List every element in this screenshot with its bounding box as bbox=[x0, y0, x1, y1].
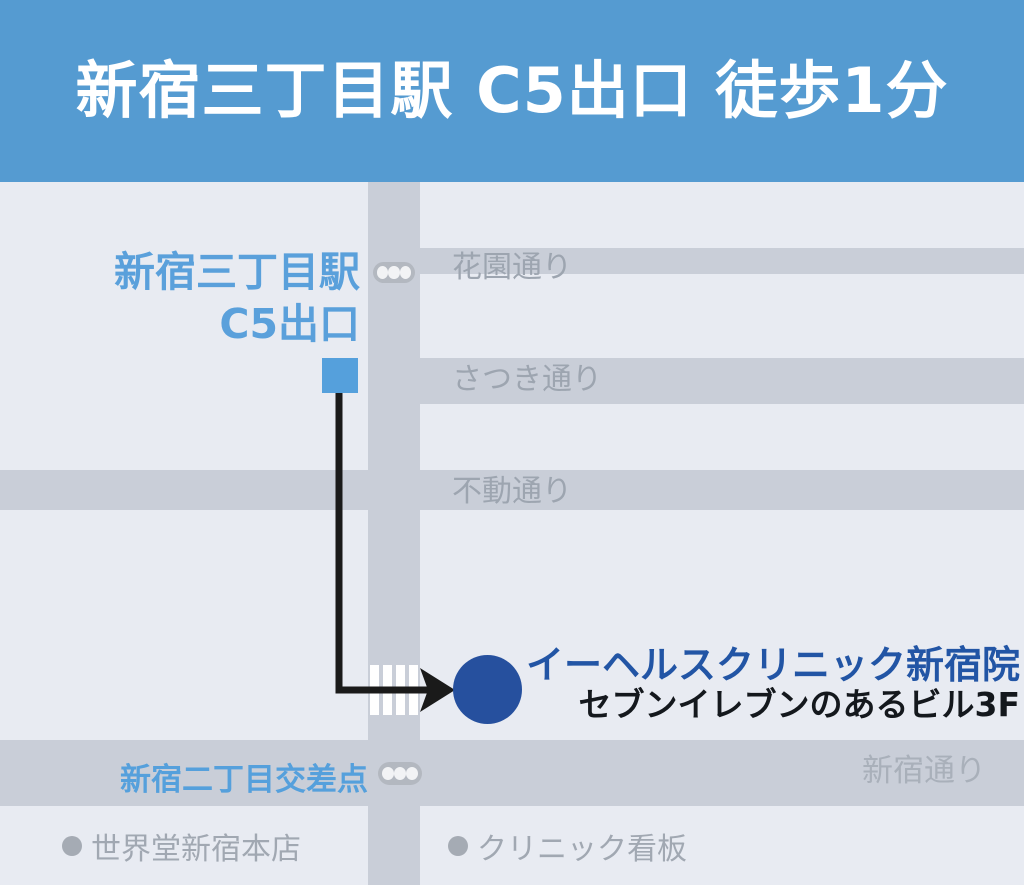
landmark-clinic-signage: クリニック看板 bbox=[448, 824, 687, 868]
road-label-satsuki-dori: さつき通り bbox=[452, 365, 602, 395]
landmark-label: 世界堂新宿本店 bbox=[91, 824, 301, 868]
landmark-dot-icon bbox=[62, 836, 82, 856]
traffic-light-bulb bbox=[388, 266, 399, 279]
landmark-dot-icon bbox=[448, 836, 468, 856]
access-map: 新宿三丁目駅 C5出口 徒歩1分 花園通り さつき通り 不動通り 新宿通り bbox=[0, 0, 1024, 885]
traffic-light-bulb bbox=[406, 767, 418, 780]
crosswalk-stripe bbox=[396, 665, 405, 715]
page-title: 新宿三丁目駅 C5出口 徒歩1分 bbox=[76, 60, 949, 122]
map-header-banner: 新宿三丁目駅 C5出口 徒歩1分 bbox=[0, 0, 1024, 182]
city-block bbox=[0, 510, 368, 740]
map-canvas: 花園通り さつき通り 不動通り 新宿通り 新宿三丁目駅 C5出口 bbox=[0, 182, 1024, 885]
city-block bbox=[420, 404, 1024, 470]
station-exit-marker bbox=[322, 358, 358, 393]
clinic-name: イーヘルスクリニック新宿院 bbox=[525, 644, 1020, 687]
crosswalk-stripe bbox=[383, 665, 392, 715]
intersection-label: 新宿二丁目交差点 bbox=[100, 754, 368, 799]
road-label-hanazono-dori: 花園通り bbox=[452, 253, 572, 283]
road-label-shinjuku-dori: 新宿通り bbox=[862, 756, 986, 787]
traffic-light-icon bbox=[373, 262, 415, 283]
crosswalk bbox=[370, 665, 418, 715]
city-block bbox=[420, 182, 1024, 248]
crosswalk-stripe bbox=[409, 665, 418, 715]
station-exit-label: 新宿三丁目駅 C5出口 bbox=[40, 246, 360, 351]
traffic-light-bulb bbox=[394, 767, 406, 780]
landmark-label: クリニック看板 bbox=[477, 824, 687, 868]
city-block bbox=[420, 274, 1024, 358]
landmark-seikaido: 世界堂新宿本店 bbox=[62, 824, 301, 868]
traffic-light-icon bbox=[378, 762, 422, 785]
traffic-light-bulb bbox=[400, 266, 411, 279]
traffic-light-bulb bbox=[377, 266, 388, 279]
crosswalk-stripe bbox=[370, 665, 379, 715]
station-exit-name: C5出口 bbox=[219, 300, 360, 348]
clinic-location-marker bbox=[453, 655, 522, 724]
traffic-light-bulb bbox=[382, 767, 394, 780]
clinic-building-info: セブンイレブンのあるビル3F bbox=[525, 687, 1020, 724]
station-name: 新宿三丁目駅 bbox=[114, 248, 360, 296]
clinic-label: イーヘルスクリニック新宿院 セブンイレブンのあるビル3F bbox=[525, 644, 1020, 724]
road-label-fudo-dori: 不動通り bbox=[452, 477, 572, 507]
city-block bbox=[0, 182, 368, 248]
